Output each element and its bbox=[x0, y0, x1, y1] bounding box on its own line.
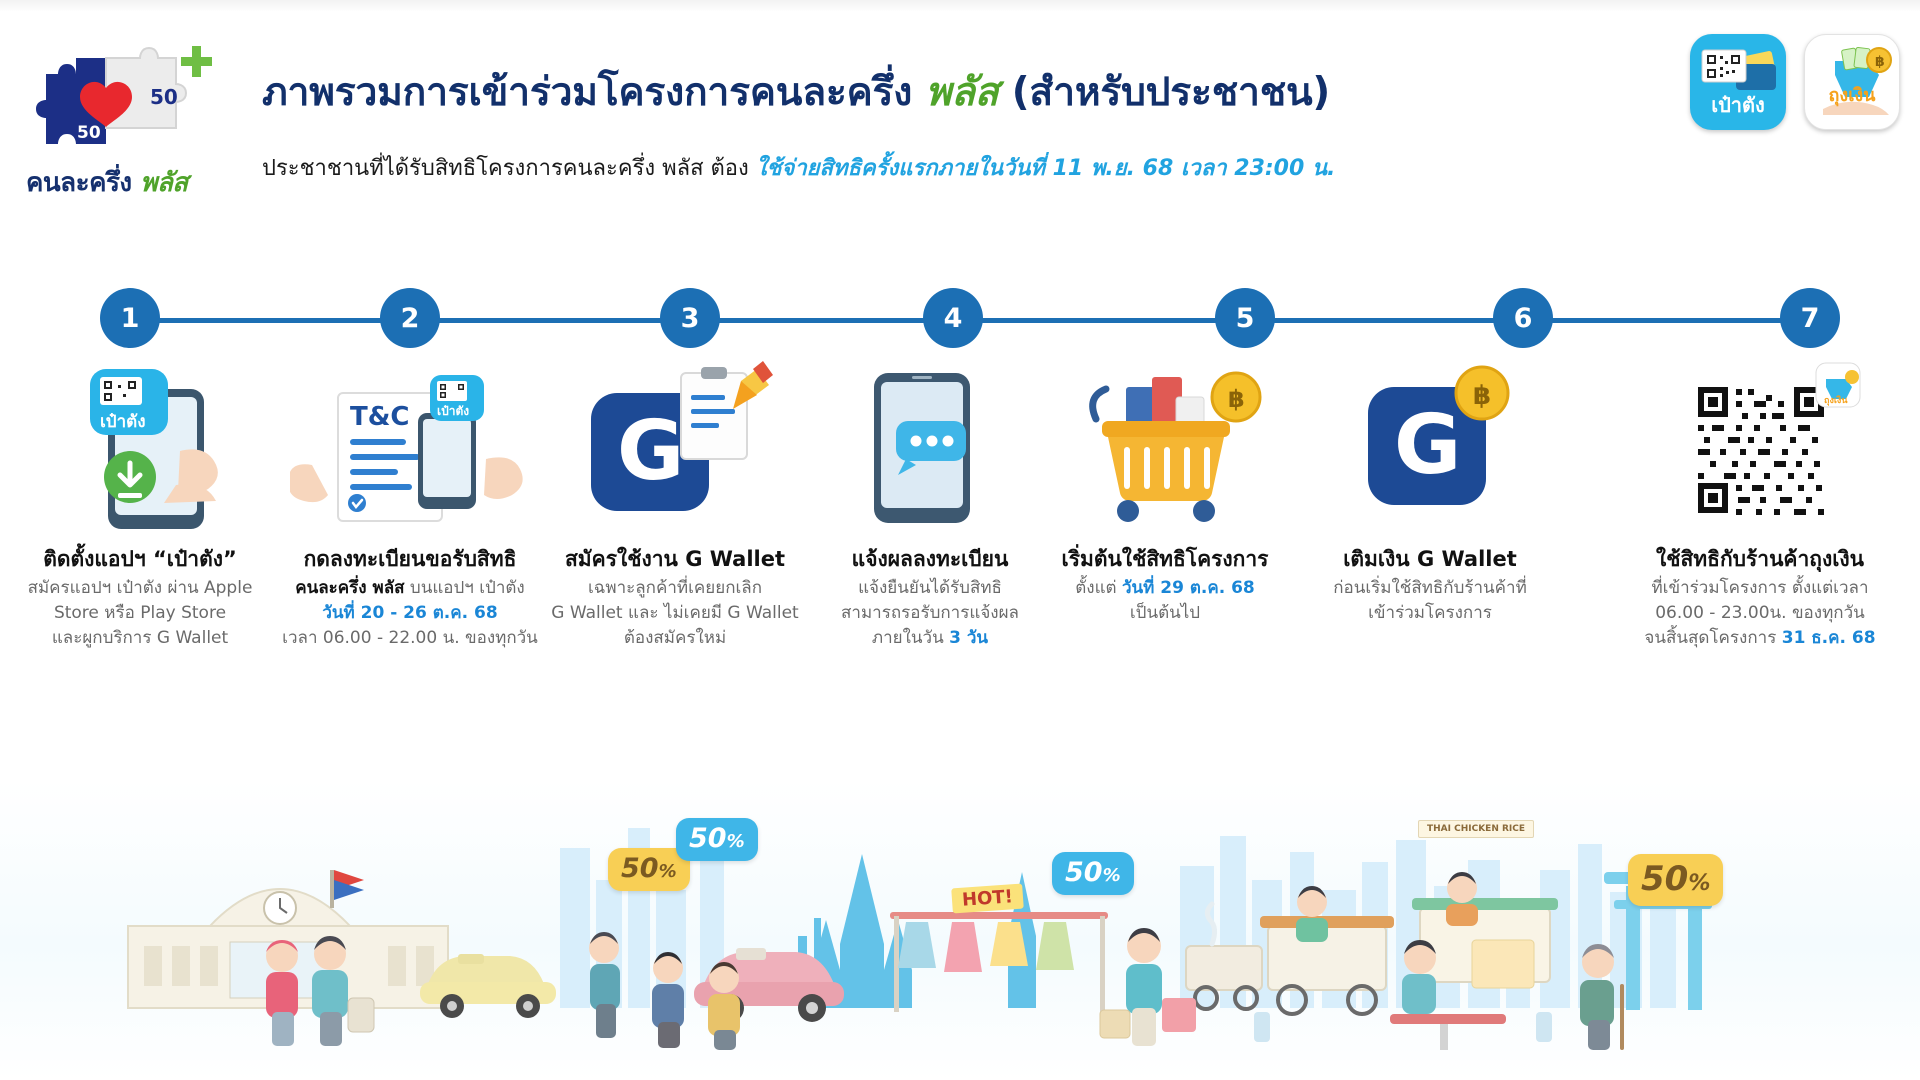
step-6-desc-line-1: ก่อนเริ่มใช้สิทธิกับร้านค้าที่ bbox=[1333, 578, 1527, 598]
g-wallet-register-icon: G bbox=[545, 352, 805, 542]
step-3-desc-line-2: G Wallet และ ไม่เคยมี G Wallet bbox=[551, 603, 798, 623]
step-1-desc-line-3: และผูกบริการ G Wallet bbox=[52, 628, 228, 648]
step-2-title: กดลงทะเบียนขอรับสิทธิ bbox=[280, 546, 540, 572]
svg-text:G: G bbox=[617, 404, 684, 499]
page-title-main: ภาพรวมการเข้าร่วมโครงการคนละครึ่ง bbox=[262, 70, 912, 115]
top-band bbox=[0, 0, 1920, 12]
step-2-desc-line-1: บนแอปฯ เป๋าตัง bbox=[405, 578, 525, 598]
svg-text:฿: ฿ bbox=[1473, 381, 1491, 411]
svg-text:G: G bbox=[1394, 398, 1461, 493]
step-1-desc: สมัครแอปฯ เป๋าตัง ผ่าน Apple Store หรือ … bbox=[10, 576, 270, 650]
svg-text:T&C: T&C bbox=[350, 402, 410, 432]
step-5-desc: ตั้งแต่ วันที่ 29 ต.ค. 68 เป็นต้นไป bbox=[1035, 576, 1295, 625]
timeline-node-6[interactable]: 6 bbox=[1493, 288, 1553, 348]
step-4-desc-line-2: สามารถรอรับการแจ้งผล bbox=[841, 603, 1019, 623]
step-5: ฿ เริ่มต้นใช้สิทธิโครงการ ตั้งแต่ วันที่… bbox=[1035, 352, 1295, 626]
logo-caption: คนละครึ่ง พลัส bbox=[26, 162, 246, 203]
step-2-desc-line-3: เวลา 06.00 - 22.00 น. ของทุกวัน bbox=[282, 628, 538, 648]
svg-text:฿: ฿ bbox=[1875, 54, 1885, 70]
step-4-title: แจ้งผลลงทะเบียน bbox=[800, 546, 1060, 572]
step-5-desc-line-2: เป็นต้นไป bbox=[1130, 603, 1200, 623]
step-1-desc-line-1: สมัครแอปฯ เป๋าตัง ผ่าน Apple bbox=[28, 578, 253, 598]
step-2-desc-date: วันที่ 20 - 26 ต.ค. 68 bbox=[322, 603, 497, 623]
qr-scan-icon: ถุงเงิน bbox=[1630, 352, 1890, 542]
header: 50 50 คนละครึ่ง พลัส ภาพรวมการเข้าร่วมโค… bbox=[0, 18, 1920, 193]
svg-text:ถุงเงิน: ถุงเงิน bbox=[1824, 395, 1848, 406]
step-7-desc-line-1: ที่เข้าร่วมโครงการ ตั้งแต่เวลา bbox=[1651, 578, 1868, 598]
svg-text:เป๋าตัง: เป๋าตัง bbox=[100, 412, 146, 432]
step-6-title: เติมเงิน G Wallet bbox=[1300, 546, 1560, 572]
timeline-node-5[interactable]: 5 bbox=[1215, 288, 1275, 348]
step-7: ถุงเงิน ใช้สิทธิกับร้านค้าถุงเงิน ที่เข้… bbox=[1630, 352, 1890, 650]
svg-text:฿: ฿ bbox=[1228, 385, 1245, 413]
step-4: แจ้งผลลงทะเบียน แจ้งยืนยันได้รับสิทธิ สา… bbox=[800, 352, 1060, 650]
step-2: T&C bbox=[280, 352, 540, 650]
timeline-node-3[interactable]: 3 bbox=[660, 288, 720, 348]
step-7-desc-line-3: จนสิ้นสุดโครงการ bbox=[1644, 628, 1781, 648]
step-2-desc-bold: คนละครึ่ง พลัส bbox=[295, 578, 404, 598]
step-5-title: เริ่มต้นใช้สิทธิโครงการ bbox=[1035, 546, 1295, 572]
step-3-desc-line-1: เฉพาะลูกค้าที่เคยยกเลิก bbox=[588, 578, 762, 598]
thungngern-app-label: ถุงเงิน bbox=[1805, 80, 1899, 109]
svg-text:50: 50 bbox=[77, 123, 101, 143]
terms-document-icon: T&C bbox=[280, 352, 540, 542]
step-5-desc-date: วันที่ 29 ต.ค. 68 bbox=[1122, 578, 1255, 598]
discount-badge-4: 50% bbox=[1628, 854, 1723, 906]
step-3-desc: เฉพาะลูกค้าที่เคยยกเลิก G Wallet และ ไม่… bbox=[545, 576, 805, 650]
step-2-desc: คนละครึ่ง พลัส บนแอปฯ เป๋าตัง วันที่ 20 … bbox=[280, 576, 540, 650]
thungngern-app-icon[interactable]: ฿ ถุงเงิน bbox=[1804, 34, 1900, 130]
timeline-node-2[interactable]: 2 bbox=[380, 288, 440, 348]
step-4-desc-line-3: ภายในวัน bbox=[872, 628, 949, 648]
step-7-desc-line-2: 06.00 - 23.00น. ของทุกวัน bbox=[1655, 603, 1865, 623]
step-4-desc-days: 3 วัน bbox=[949, 628, 988, 648]
timeline: 1 2 3 4 5 6 7 bbox=[0, 288, 1920, 350]
step-6: G ฿ เติมเงิน G Wallet ก่อนเริ่มใช้สิทธิก… bbox=[1300, 352, 1560, 626]
city-illustration: 50% 50% 50% 50% HOT! THAI CHICKEN RICE bbox=[0, 740, 1920, 1080]
svg-text:50: 50 bbox=[150, 85, 178, 109]
program-logo: 50 50 คนละครึ่ง พลัส bbox=[18, 40, 228, 210]
app-icon-group: เป๋าตัง ฿ ถุงเงิน bbox=[1690, 34, 1900, 130]
hot-sign: HOT! bbox=[951, 884, 1023, 914]
step-3: G สมัครใช้งาน G Wallet เฉพาะลูกค้าที่เคย… bbox=[545, 352, 805, 650]
step-6-desc: ก่อนเริ่มใช้สิทธิกับร้านค้าที่ เข้าร่วมโ… bbox=[1300, 576, 1560, 625]
step-5-desc-prefix: ตั้งแต่ bbox=[1075, 578, 1122, 598]
phone-notification-icon bbox=[800, 352, 1060, 542]
discount-badge-2: 50% bbox=[676, 818, 758, 861]
page-subtitle-main: ประชาชานที่ได้รับสิทธิโครงการคนละครึ่ง พ… bbox=[262, 156, 749, 181]
g-wallet-topup-icon: G ฿ bbox=[1300, 352, 1560, 542]
logo-caption-main: คนละครึ่ง bbox=[26, 168, 132, 198]
step-1-desc-line-2: Store หรือ Play Store bbox=[54, 603, 226, 623]
page-title-suffix: (สำหรับประชาชน) bbox=[1012, 70, 1330, 115]
paotang-app-label: เป๋าตัง bbox=[1690, 89, 1786, 121]
phone-download-icon: เป๋าตัง bbox=[10, 352, 270, 542]
page-subtitle-highlight: ใช้จ่ายสิทธิครั้งแรกภายในวันที่ 11 พ.ย. … bbox=[756, 156, 1336, 181]
step-4-desc-line-1: แจ้งยืนยันได้รับสิทธิ bbox=[858, 578, 1002, 598]
timeline-node-7[interactable]: 7 bbox=[1780, 288, 1840, 348]
step-1-title: ติดตั้งแอปฯ “เป๋าตัง” bbox=[10, 546, 270, 572]
page-title-plus: พลัส bbox=[926, 70, 999, 115]
infographic-page: 50 50 คนละครึ่ง พลัส ภาพรวมการเข้าร่วมโค… bbox=[0, 0, 1920, 1080]
step-list: เป๋าตัง ติดตั้งแอปฯ “เป๋าตัง” สมัครแอปฯ … bbox=[0, 352, 1920, 742]
discount-badge-3: 50% bbox=[1052, 852, 1134, 895]
step-4-desc: แจ้งยืนยันได้รับสิทธิ สามารถรอรับการแจ้ง… bbox=[800, 576, 1060, 650]
page-subtitle: ประชาชานที่ได้รับสิทธิโครงการคนละครึ่ง พ… bbox=[262, 150, 1335, 185]
timeline-node-4[interactable]: 4 bbox=[923, 288, 983, 348]
step-7-desc-end-date: 31 ธ.ค. 68 bbox=[1782, 628, 1876, 648]
paotang-app-icon[interactable]: เป๋าตัง bbox=[1690, 34, 1786, 130]
step-1: เป๋าตัง ติดตั้งแอปฯ “เป๋าตัง” สมัครแอปฯ … bbox=[10, 352, 270, 650]
step-7-desc: ที่เข้าร่วมโครงการ ตั้งแต่เวลา 06.00 - 2… bbox=[1630, 576, 1890, 650]
shopping-basket-icon: ฿ bbox=[1035, 352, 1295, 542]
puzzle-logo-icon: 50 50 bbox=[32, 40, 217, 160]
page-title: ภาพรวมการเข้าร่วมโครงการคนละครึ่ง พลัส (… bbox=[262, 61, 1330, 123]
step-6-desc-line-2: เข้าร่วมโครงการ bbox=[1368, 603, 1492, 623]
svg-text:เป๋าตัง: เป๋าตัง bbox=[437, 404, 469, 418]
timeline-node-1[interactable]: 1 bbox=[100, 288, 160, 348]
logo-caption-plus: พลัส bbox=[140, 168, 187, 198]
shop-sign: THAI CHICKEN RICE bbox=[1418, 820, 1534, 838]
step-3-title: สมัครใช้งาน G Wallet bbox=[545, 546, 805, 572]
step-7-title: ใช้สิทธิกับร้านค้าถุงเงิน bbox=[1630, 546, 1890, 572]
step-3-desc-line-3: ต้องสมัครใหม่ bbox=[624, 628, 726, 648]
